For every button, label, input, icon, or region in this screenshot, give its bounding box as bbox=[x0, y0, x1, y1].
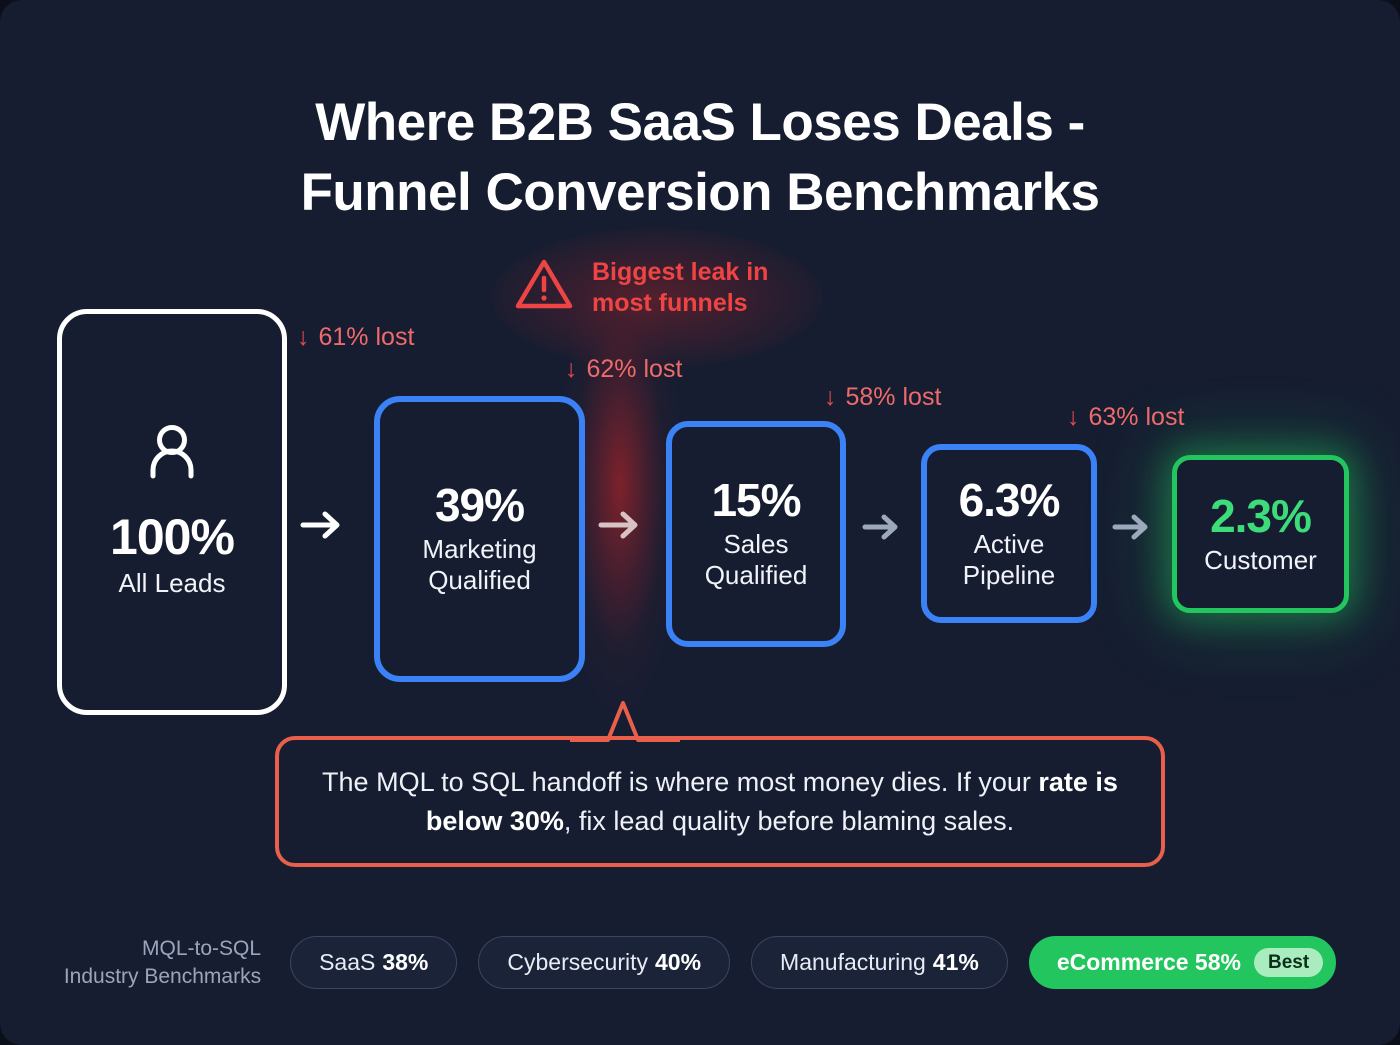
arrow-right-icon bbox=[598, 508, 642, 547]
benchmarks-label: MQL-to-SQL Industry Benchmarks bbox=[64, 935, 261, 991]
down-arrow-icon: ↓ bbox=[824, 385, 837, 410]
funnel-stage-sales-qualified: 15% Sales Qualified bbox=[666, 421, 846, 647]
stage-value: 39% bbox=[435, 481, 524, 530]
arrow-right-icon bbox=[1112, 512, 1152, 547]
pill-value: 38% bbox=[382, 949, 428, 976]
biggest-leak-annotation: Biggest leak in most funnels bbox=[513, 256, 768, 319]
loss-text: 63% lost bbox=[1089, 403, 1185, 432]
pill-name: Manufacturing bbox=[780, 949, 926, 976]
pill-value: 58% bbox=[1195, 949, 1241, 975]
stage-value: 2.3% bbox=[1210, 492, 1311, 541]
funnel-stage-active-pipeline: 6.3% Active Pipeline bbox=[921, 444, 1097, 623]
benchmarks-footer: MQL-to-SQL Industry Benchmarks SaaS38% C… bbox=[0, 935, 1400, 991]
stage-value: 100% bbox=[110, 511, 234, 564]
callout-lead: The MQL to SQL handoff is where most mon… bbox=[322, 767, 1038, 797]
best-badge: Best bbox=[1254, 948, 1323, 977]
benchmark-pill-ecommerce[interactable]: eCommerce 58% Best bbox=[1029, 936, 1336, 989]
arrow-right-icon bbox=[862, 512, 902, 547]
infographic-canvas: Where B2B SaaS Loses Deals - Funnel Conv… bbox=[0, 0, 1400, 1045]
benchmark-pill-manufacturing[interactable]: Manufacturing41% bbox=[751, 936, 1008, 989]
pill-name: SaaS bbox=[319, 949, 375, 976]
benchmark-pill-cybersecurity[interactable]: Cybersecurity40% bbox=[478, 936, 730, 989]
callout-text: The MQL to SQL handoff is where most mon… bbox=[279, 763, 1161, 840]
stage-value: 15% bbox=[711, 476, 800, 525]
loss-label-3: ↓ 58% lost bbox=[824, 383, 941, 412]
loss-label-4: ↓ 63% lost bbox=[1067, 403, 1184, 432]
callout-pointer bbox=[570, 690, 680, 751]
pill-name: Cybersecurity bbox=[507, 949, 648, 976]
stage-label: All Leads bbox=[119, 568, 226, 599]
funnel-stage-all-leads: 100% All Leads bbox=[57, 309, 287, 715]
down-arrow-icon: ↓ bbox=[1067, 405, 1080, 430]
pill-name-value: eCommerce 58% bbox=[1057, 949, 1241, 976]
warning-triangle-icon bbox=[513, 256, 575, 319]
down-arrow-icon: ↓ bbox=[565, 357, 578, 382]
pill-value: 41% bbox=[933, 949, 979, 976]
funnel-stage-customer: 2.3% Customer bbox=[1172, 455, 1349, 613]
stage-label: Active Pipeline bbox=[963, 529, 1056, 591]
person-icon bbox=[146, 424, 198, 485]
funnel-stage-marketing-qualified: 39% Marketing Qualified bbox=[374, 396, 585, 682]
stage-label: Sales Qualified bbox=[705, 529, 808, 591]
warning-text: Biggest leak in most funnels bbox=[592, 257, 768, 318]
arrow-right-icon bbox=[300, 508, 344, 547]
pill-name: eCommerce bbox=[1057, 949, 1189, 975]
down-arrow-icon: ↓ bbox=[297, 325, 310, 350]
stage-label: Customer bbox=[1204, 545, 1317, 576]
benchmark-pill-saas[interactable]: SaaS38% bbox=[290, 936, 457, 989]
loss-label-2: ↓ 62% lost bbox=[565, 355, 682, 384]
stage-label: Marketing Qualified bbox=[422, 534, 536, 596]
pill-value: 40% bbox=[655, 949, 701, 976]
insight-callout: The MQL to SQL handoff is where most mon… bbox=[275, 736, 1165, 867]
loss-label-1: ↓ 61% lost bbox=[297, 323, 414, 352]
funnel-diagram: 100% All Leads 39% Marketing Qualified 1… bbox=[0, 0, 1400, 1045]
loss-text: 58% lost bbox=[846, 383, 942, 412]
stage-value: 6.3% bbox=[959, 476, 1060, 525]
loss-text: 62% lost bbox=[587, 355, 683, 384]
loss-text: 61% lost bbox=[319, 323, 415, 352]
callout-tail-text: , fix lead quality before blaming sales. bbox=[564, 806, 1014, 836]
